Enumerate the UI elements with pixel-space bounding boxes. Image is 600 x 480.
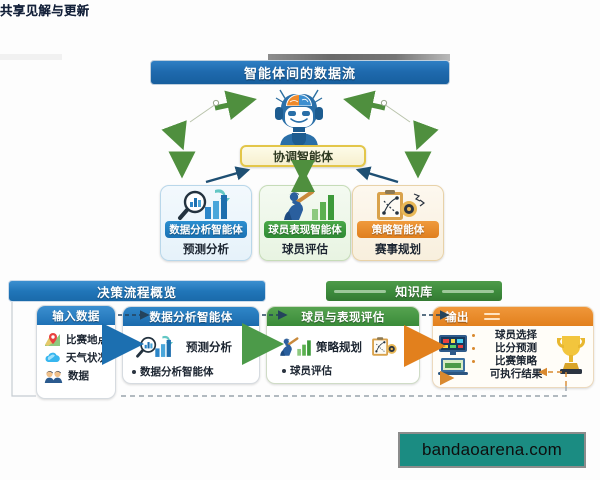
flow-step-header: 输入数据 — [37, 306, 115, 325]
laptop-icon — [438, 357, 468, 376]
cloud-icon — [44, 351, 61, 365]
kb-dash-right — [442, 290, 494, 293]
agent-card-pill: 数据分析智能体 — [165, 221, 247, 238]
robot-icon — [266, 86, 332, 148]
flow-bullet-label: 球员评估 — [290, 365, 332, 377]
agent-card-data-analysis[interactable]: 数据分析智能体 预测分析 — [160, 185, 252, 261]
input-item-venue: 比赛地点 — [44, 332, 110, 347]
bullet-dot — [282, 369, 286, 373]
bullet-dot — [132, 370, 136, 374]
input-item-label: 数据 — [68, 368, 89, 383]
map-pin-icon — [44, 332, 61, 347]
menu-icon — [483, 311, 501, 323]
output-bullet-label: 比分预测 — [495, 342, 537, 354]
output-bullet-label: 比赛策略 — [495, 355, 537, 367]
gray-strip-left — [0, 54, 62, 60]
input-item-data: 数据 — [44, 368, 110, 383]
agent-card-pill: 球员表现智能体 — [264, 221, 346, 238]
magnifier-bar-chart-icon — [161, 186, 251, 221]
flow-step-header: 球员与表现评估 — [267, 307, 419, 326]
bullet-dot — [472, 360, 475, 363]
clipboard-tactics-icon — [366, 333, 404, 360]
watermark: bandaoarena.com — [398, 432, 586, 468]
scoreboard-icon — [438, 334, 468, 355]
people-icon — [44, 369, 63, 383]
input-item-label: 比赛地点 — [66, 332, 108, 347]
agent-card-pill: 策略智能体 — [357, 221, 439, 238]
agent-card-strategy[interactable]: 策略智能体 赛事规划 — [352, 185, 444, 261]
flow-step-input[interactable]: 输入数据 比赛地点 天气状况 — [36, 305, 116, 399]
output-footer-label: 可执行结果 — [482, 368, 550, 381]
magnifier-bar-chart-icon — [134, 333, 178, 361]
trophy-icon — [554, 333, 588, 377]
diagram-canvas: 智能体间的数据流 — [0, 0, 600, 480]
flow-step-bullet: 球员评估 — [282, 363, 414, 378]
coordinator-node[interactable]: 协调智能体 — [240, 145, 366, 167]
page-title: 智能体间的数据流 — [150, 60, 450, 85]
kb-dash-left — [334, 290, 386, 293]
flow-step-header: 输出 — [433, 307, 593, 326]
input-item-weather: 天气状况 — [44, 350, 110, 365]
share-label-right: 共享见解与更新 — [0, 0, 90, 19]
output-device-icons — [438, 334, 468, 376]
agent-card-subtitle: 球员评估 — [260, 241, 350, 257]
clipboard-tactics-icon — [353, 186, 443, 221]
flow-step-output[interactable]: 输出 — [432, 306, 594, 388]
flow-step-main-label: 预测分析 — [186, 339, 232, 355]
output-bullet-label: 球员选择 — [495, 329, 537, 341]
flow-step-bullet: 数据分析智能体 — [132, 364, 254, 379]
agent-card-subtitle: 赛事规划 — [353, 241, 443, 257]
batsman-bar-chart-icon — [274, 333, 312, 360]
input-item-label: 天气状况 — [66, 350, 108, 365]
knowledge-base-title: 知识库 — [326, 281, 502, 301]
agent-card-player-performance[interactable]: 球员表现智能体 球员评估 — [259, 185, 351, 261]
flow-bullet-label: 数据分析智能体 — [140, 366, 214, 378]
output-bullet-list: 球员选择 比分预测 比赛策略 可执行结果 — [472, 329, 550, 381]
flow-step-main-label: 策略规划 — [316, 339, 362, 355]
knowledge-base-label: 知识库 — [395, 283, 433, 300]
bullet-dot — [472, 334, 475, 337]
flow-step-performance[interactable]: 球员与表现评估 策略规划 — [266, 306, 420, 384]
flow-step-data-agent[interactable]: 数据分析智能体 预测分析 数据分析智能体 — [122, 306, 260, 384]
output-header-label: 输出 — [445, 309, 469, 325]
flow-section-title: 决策流程概览 — [8, 280, 266, 302]
flow-step-header: 数据分析智能体 — [123, 307, 259, 326]
bullet-dot — [472, 347, 475, 350]
batsman-bar-chart-icon — [260, 186, 350, 221]
agent-card-subtitle: 预测分析 — [161, 241, 251, 257]
